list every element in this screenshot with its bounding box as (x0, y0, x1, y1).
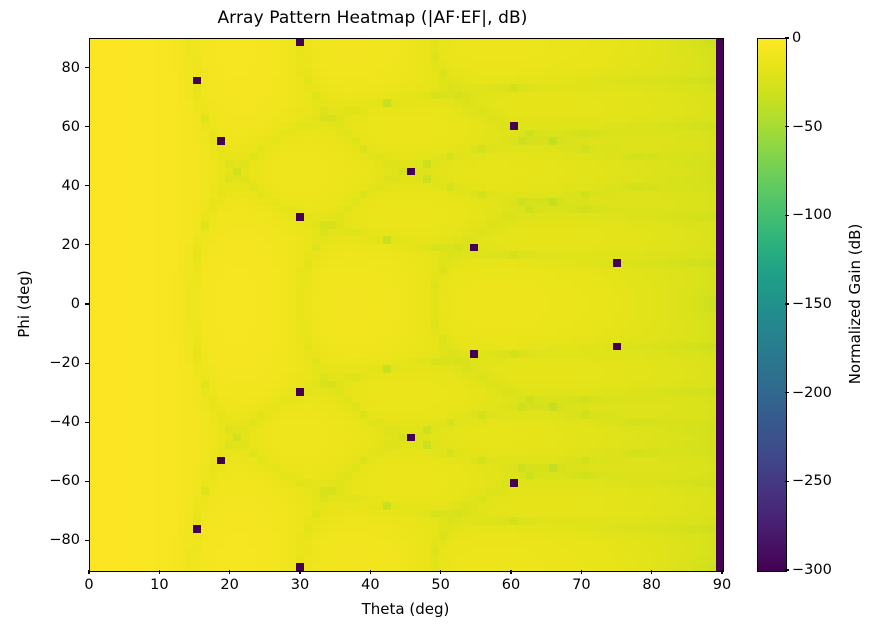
y-tick-label: 40 (0, 178, 80, 194)
x-tick-label: 60 (502, 577, 520, 593)
x-tick (510, 570, 511, 574)
x-tick (440, 570, 441, 574)
x-axis-title: Theta (deg) (89, 600, 722, 618)
y-tick-label: −20 (0, 355, 80, 371)
x-tick-label: 0 (84, 577, 93, 593)
heatmap-canvas[interactable] (90, 39, 723, 571)
y-tick-label: 80 (0, 60, 80, 76)
y-tick (85, 244, 89, 245)
x-tick-label: 80 (642, 577, 660, 593)
x-tick (299, 570, 300, 574)
y-tick-label: 0 (0, 296, 80, 312)
colorbar-tick (785, 215, 789, 216)
colorbar-tick (785, 37, 789, 38)
colorbar-title: Normalized Gain (dB) (846, 224, 864, 385)
colorbar-tick (785, 303, 789, 304)
y-tick (85, 126, 89, 127)
plot-area[interactable] (89, 38, 724, 572)
colorbar-tick (785, 126, 789, 127)
y-tick-label: 60 (0, 119, 80, 135)
y-tick (85, 540, 89, 541)
x-tick (229, 570, 230, 574)
colorbar-tick-label: −100 (792, 207, 832, 223)
y-tick (85, 67, 89, 68)
colorbar-tick-label: −150 (792, 296, 832, 312)
x-tick-label: 30 (291, 577, 309, 593)
colorbar-gradient (758, 39, 786, 571)
x-tick (721, 570, 722, 574)
y-tick (85, 363, 89, 364)
x-tick (88, 570, 89, 574)
y-tick (85, 303, 89, 304)
x-tick-label: 90 (713, 577, 731, 593)
colorbar-tick-label: −250 (792, 473, 832, 489)
x-tick-label: 40 (361, 577, 379, 593)
x-tick-label: 10 (150, 577, 168, 593)
x-tick (159, 570, 160, 574)
colorbar-tick (785, 392, 789, 393)
chart-title: Array Pattern Heatmap (|AF·EF|, dB) (0, 8, 745, 28)
colorbar-tick (785, 569, 789, 570)
y-tick-label: −60 (0, 473, 80, 489)
array-pattern-heatmap-figure: Array Pattern Heatmap (|AF·EF|, dB) 0102… (0, 0, 885, 637)
y-tick-label: −40 (0, 414, 80, 430)
x-tick-label: 20 (220, 577, 238, 593)
x-tick-label: 70 (572, 577, 590, 593)
y-tick-label: −80 (0, 532, 80, 548)
x-tick (581, 570, 582, 574)
x-tick (651, 570, 652, 574)
x-tick-label: 50 (431, 577, 449, 593)
x-tick (370, 570, 371, 574)
colorbar-tick (785, 481, 789, 482)
colorbar-tick-label: −50 (792, 119, 823, 135)
y-axis-title: Phi (deg) (15, 270, 33, 337)
colorbar[interactable] (757, 38, 787, 572)
colorbar-tick-label: −300 (792, 562, 832, 578)
colorbar-tick-label: 0 (792, 30, 801, 46)
y-tick (85, 481, 89, 482)
y-tick (85, 185, 89, 186)
y-tick (85, 422, 89, 423)
y-tick-label: 20 (0, 237, 80, 253)
colorbar-tick-label: −200 (792, 385, 832, 401)
